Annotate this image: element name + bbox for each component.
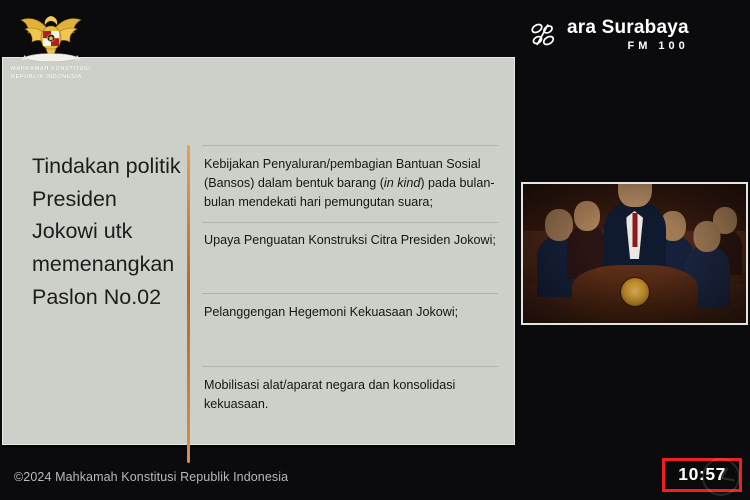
- slide-points-list: Kebijakan Penyaluran/pembagian Bantuan S…: [202, 145, 498, 423]
- accent-vertical-divider: [187, 145, 190, 463]
- list-item: Upaya Penguatan Konstruksi Citra Preside…: [202, 222, 498, 292]
- courtroom-video-inset[interactable]: [521, 182, 748, 325]
- institution-caption: MAHKAMAH KONSTITUSI REPUBLIK INDONESIA: [11, 65, 90, 82]
- speaking-timer: 10:57: [662, 458, 742, 492]
- list-item: Mobilisasi alat/aparat negara dan konsol…: [202, 366, 498, 423]
- copyright-text: ©2024 Mahkamah Konstitusi Republik Indon…: [14, 470, 288, 484]
- broadcast-screen: ara Surabaya FM 100: [0, 0, 750, 500]
- point-1-italic: in kind: [384, 176, 420, 190]
- video-vignette: [523, 184, 746, 323]
- station-branding: ara Surabaya FM 100: [528, 18, 689, 52]
- suara-surabaya-logo-icon: [528, 20, 558, 50]
- point-text-2: Upaya Penguatan Konstruksi Citra Preside…: [202, 223, 498, 292]
- station-name: ara Surabaya: [567, 18, 689, 37]
- station-frequency: FM 100: [567, 41, 689, 52]
- list-item: Kebijakan Penyaluran/pembagian Bantuan S…: [202, 145, 498, 222]
- timer-value: 10:57: [678, 464, 726, 484]
- point-text-1: Kebijakan Penyaluran/pembagian Bantuan S…: [202, 146, 498, 222]
- station-text: ara Surabaya FM 100: [567, 18, 689, 52]
- presentation-slide: MAHKAMAH KONSTITUSI REPUBLIK INDONESIA T…: [2, 57, 515, 445]
- slide-title: Tindakan politik Presiden Jokowi utk mem…: [32, 150, 182, 313]
- point-text-3: Pelanggengan Hegemoni Kekuasaan Jokowi;: [202, 294, 498, 366]
- point-text-4: Mobilisasi alat/aparat negara dan konsol…: [202, 367, 498, 423]
- list-item: Pelanggengan Hegemoni Kekuasaan Jokowi;: [202, 293, 498, 366]
